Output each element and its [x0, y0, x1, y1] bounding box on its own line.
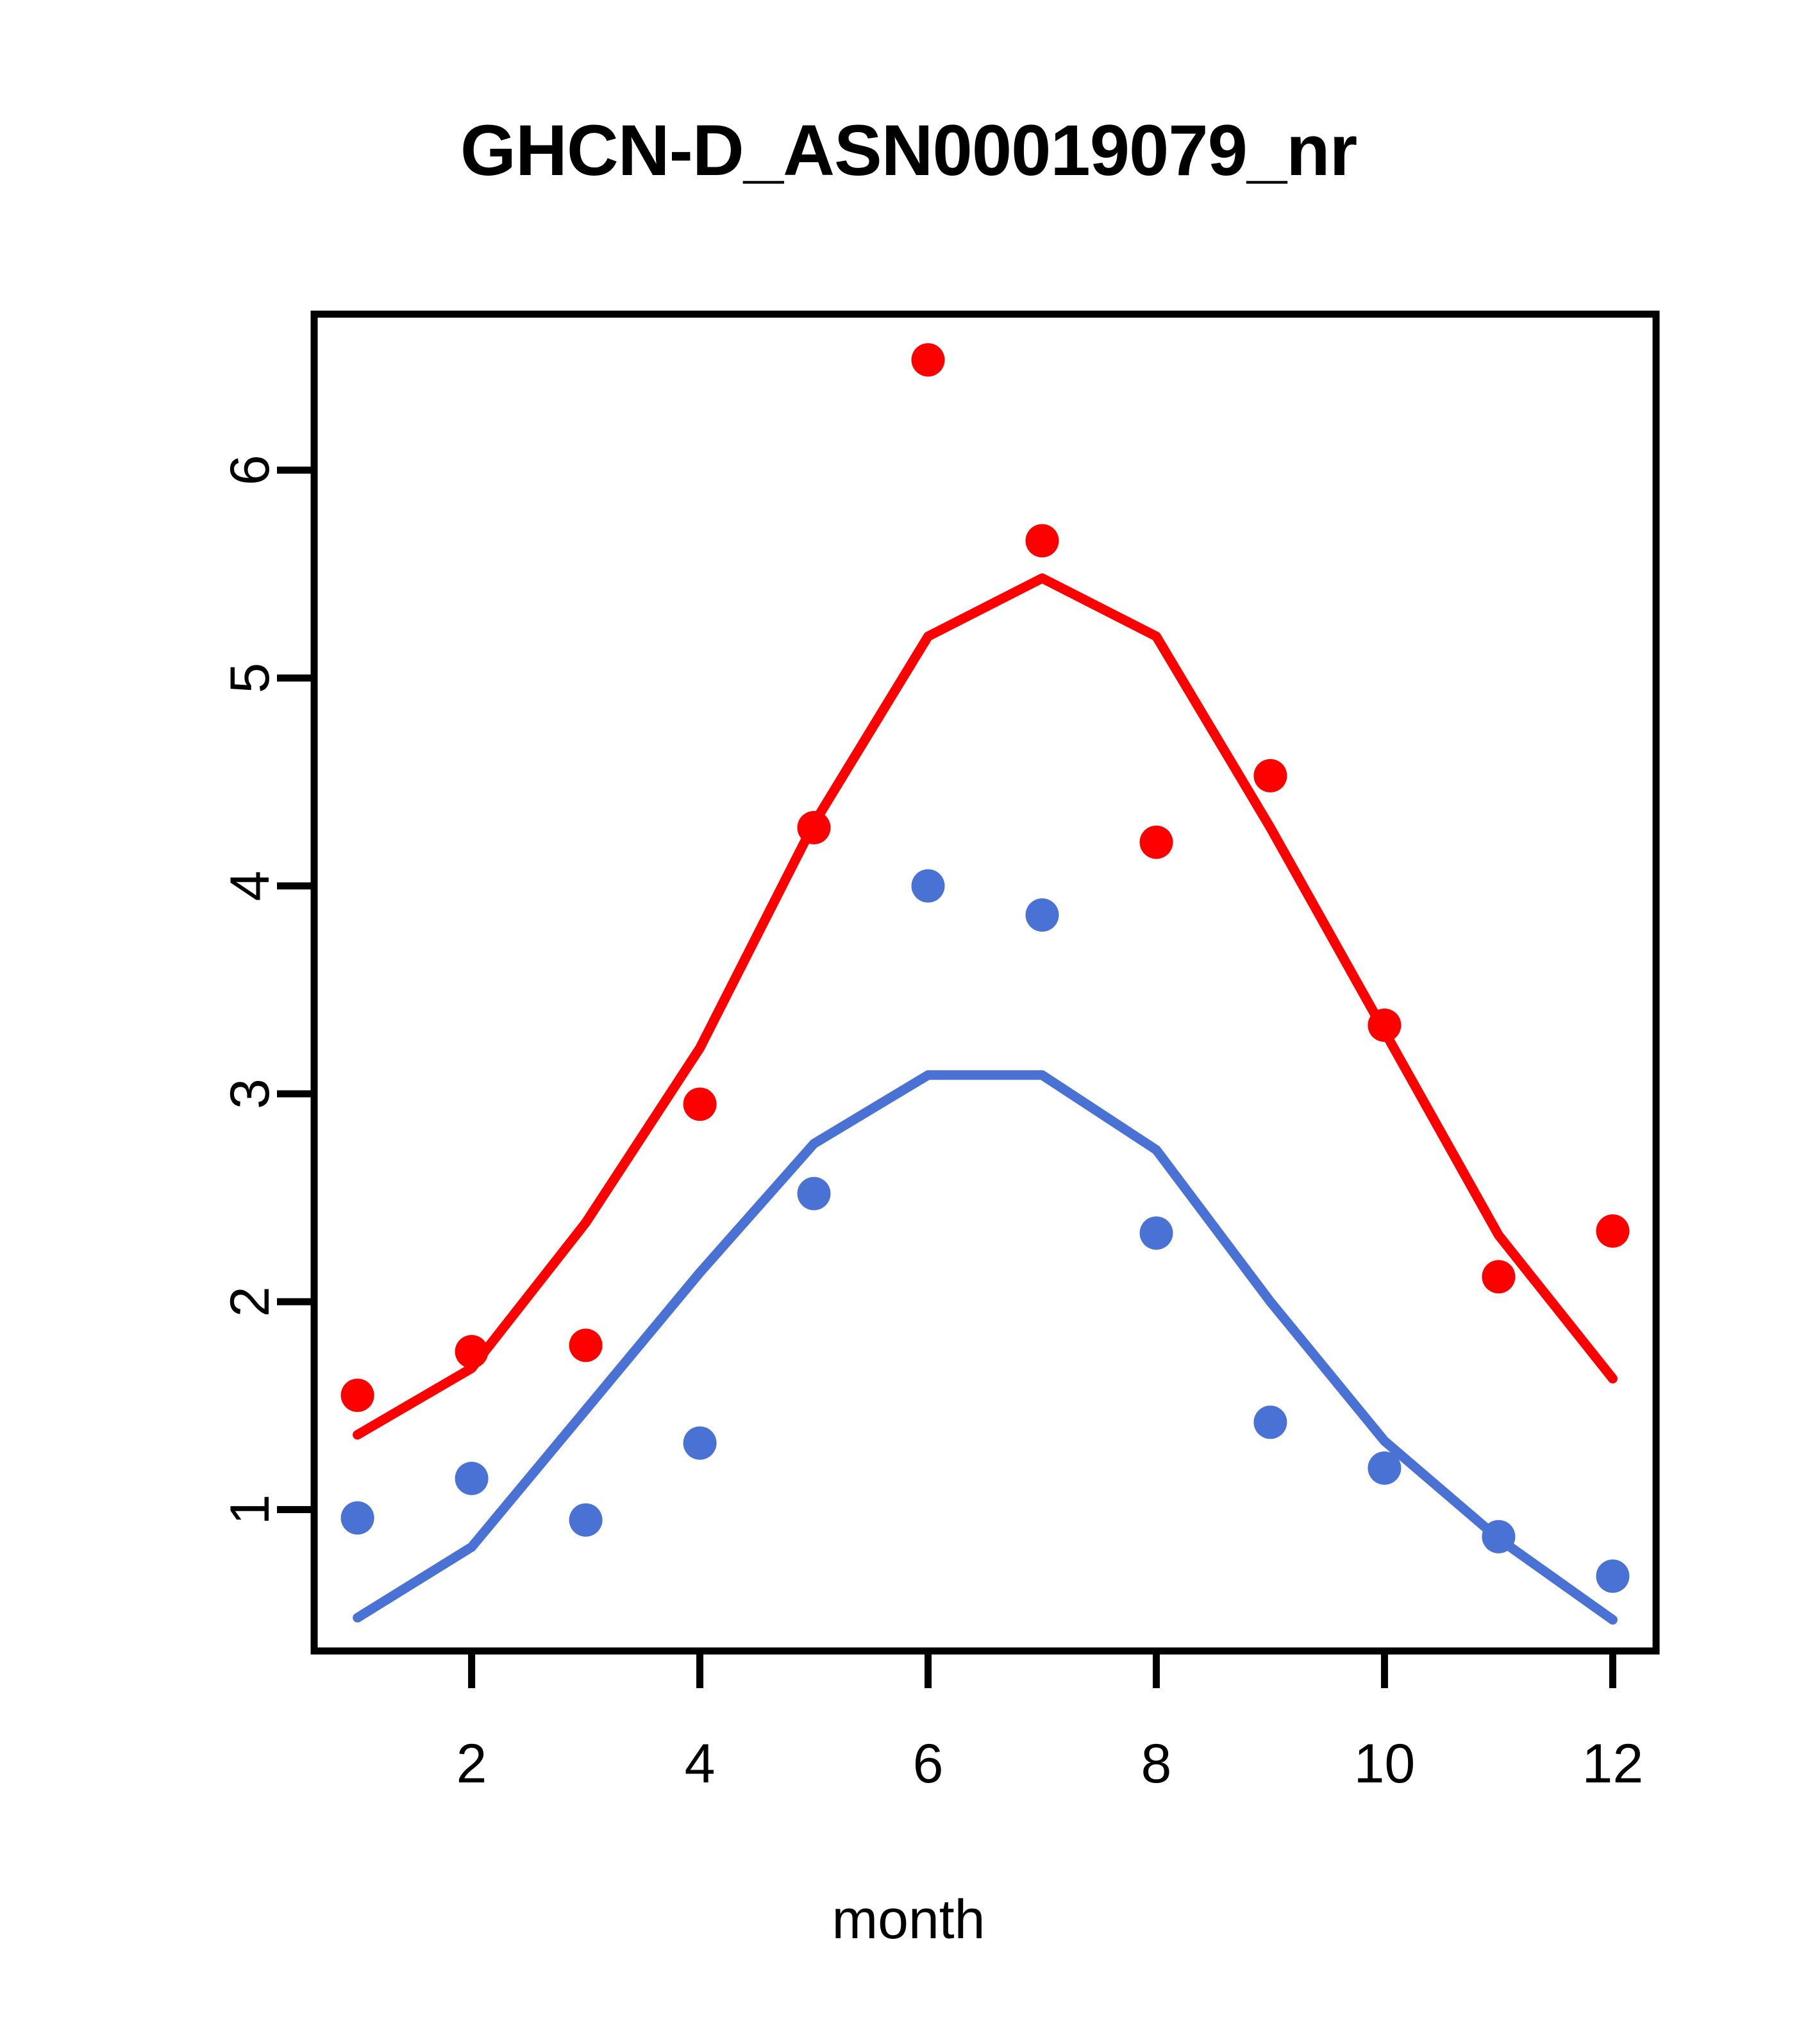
data-point-blue-points — [1482, 1520, 1515, 1554]
data-point-blue-points — [912, 869, 945, 903]
data-point-red-points — [1368, 1009, 1401, 1042]
data-point-red-points — [455, 1335, 489, 1368]
y-tick-label: 3 — [219, 1078, 281, 1109]
data-point-red-points — [1140, 826, 1173, 859]
x-axis-ticks — [472, 1651, 1613, 1688]
x-tick-label: 8 — [1141, 1733, 1172, 1795]
y-tick-label: 6 — [219, 455, 281, 485]
data-point-red-points — [912, 343, 945, 376]
data-point-blue-points — [798, 1177, 831, 1210]
data-point-red-points — [683, 1087, 717, 1121]
series-lines — [358, 578, 1613, 1620]
data-point-blue-points — [1140, 1216, 1173, 1250]
data-point-blue-points — [455, 1462, 489, 1495]
data-point-red-points — [341, 1378, 374, 1412]
data-point-red-points — [1596, 1214, 1629, 1248]
x-tick-label: 12 — [1582, 1733, 1644, 1795]
data-point-blue-points — [1253, 1405, 1287, 1439]
plot-area: 123456 24681012 — [0, 0, 1817, 2044]
data-point-blue-points — [341, 1502, 374, 1535]
x-axis-label: month — [0, 1888, 1817, 1952]
data-point-red-points — [569, 1328, 603, 1362]
y-tick-label: 1 — [219, 1495, 281, 1525]
data-point-blue-points — [1596, 1559, 1629, 1593]
x-tick-label: 4 — [685, 1733, 716, 1795]
data-point-blue-points — [683, 1427, 717, 1460]
data-point-red-points — [1026, 524, 1059, 557]
series-line-red-line — [358, 578, 1613, 1435]
plot-border — [314, 314, 1656, 1651]
figure-canvas: GHCN-D_ASN00019079_nr 123456 24681012 mo… — [0, 0, 1817, 2044]
x-tick-label: 6 — [913, 1733, 944, 1795]
y-axis-ticks — [277, 470, 314, 1509]
series-points — [341, 343, 1630, 1593]
data-point-red-points — [1482, 1260, 1515, 1293]
y-axis-tick-labels: 123456 — [219, 455, 281, 1525]
data-point-red-points — [1253, 759, 1287, 792]
x-axis-tick-labels: 24681012 — [456, 1733, 1644, 1795]
y-tick-label: 2 — [219, 1286, 281, 1317]
data-point-blue-points — [1368, 1452, 1401, 1485]
data-point-blue-points — [1026, 898, 1059, 932]
data-point-blue-points — [569, 1504, 603, 1537]
y-tick-label: 4 — [219, 871, 281, 901]
series-line-blue-line — [358, 1075, 1613, 1620]
x-tick-label: 10 — [1354, 1733, 1416, 1795]
x-tick-label: 2 — [456, 1733, 487, 1795]
y-tick-label: 5 — [219, 663, 281, 694]
data-point-red-points — [798, 811, 831, 844]
